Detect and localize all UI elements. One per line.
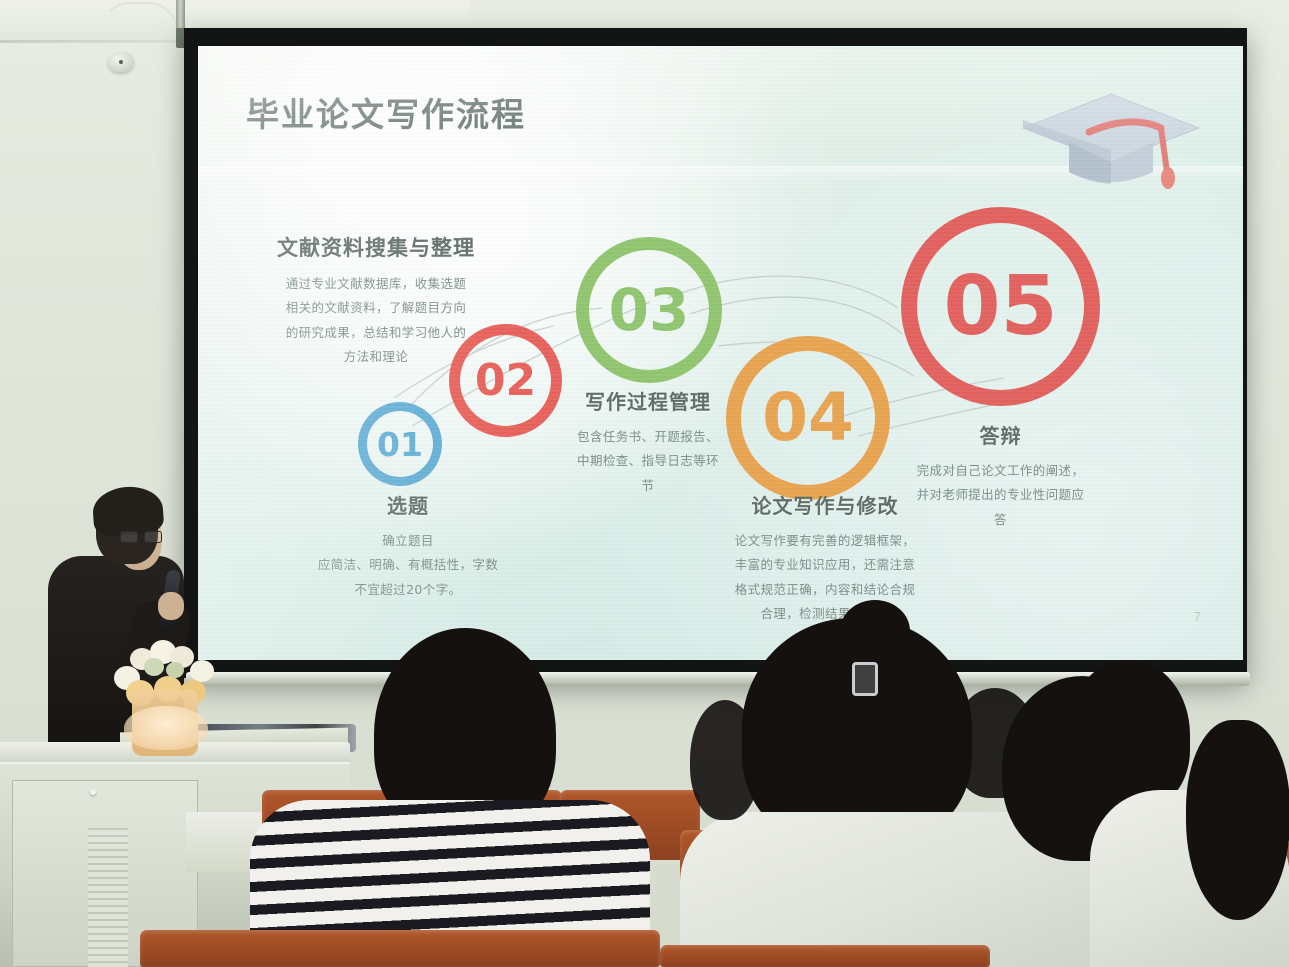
step-body-03: 包含任务书、开题报告、 中期检查、指导日志等环 节: [538, 425, 758, 498]
step-block-03: 写作过程管理 包含任务书、开题报告、 中期检查、指导日志等环 节: [538, 386, 758, 498]
step-heading-01: 选题: [293, 490, 523, 519]
step-body-05: 完成对自己论文工作的阐述， 并对老师提出的专业性问题应 答: [888, 459, 1113, 532]
step-body-02: 通过专业文献数据库，收集选题 相关的文献资料，了解题目方向 的研究成果，总结和学…: [256, 272, 496, 370]
screenshot-root: 毕业论文写作流程 01 02: [0, 0, 1289, 967]
step-block-05: 答辩 完成对自己论文工作的阐述， 并对老师提出的专业性问题应 答: [888, 420, 1113, 532]
step-heading-05: 答辩: [888, 420, 1113, 449]
projected-slide: 毕业论文写作流程 01 02: [198, 46, 1243, 660]
step-block-02: 文献资料搜集与整理 通过专业文献数据库，收集选题 相关的文献资料，了解题目方向 …: [256, 232, 496, 370]
step-circle-01: 01: [358, 402, 442, 486]
step-circle-03: 03: [576, 237, 722, 383]
wall-seam: [0, 40, 190, 43]
step-body-04: 论文写作要有完善的逻辑框架， 丰富的专业知识应用，还需注意 格式规范正确，内容和…: [710, 529, 940, 627]
slide-page-number: 7: [1194, 609, 1201, 624]
step-block-01: 选题 确立题目 应简洁、明确、有概括性，字数 不宜超过20个字。: [293, 490, 523, 602]
smoke-detector-icon: [108, 52, 134, 72]
step-heading-03: 写作过程管理: [538, 386, 758, 415]
step-body-01: 确立题目 应简洁、明确、有概括性，字数 不宜超过20个字。: [293, 529, 523, 602]
step-circle-05: 05: [901, 207, 1100, 406]
screen-roller-bar: [186, 672, 1250, 686]
step-heading-02: 文献资料搜集与整理: [256, 232, 496, 262]
